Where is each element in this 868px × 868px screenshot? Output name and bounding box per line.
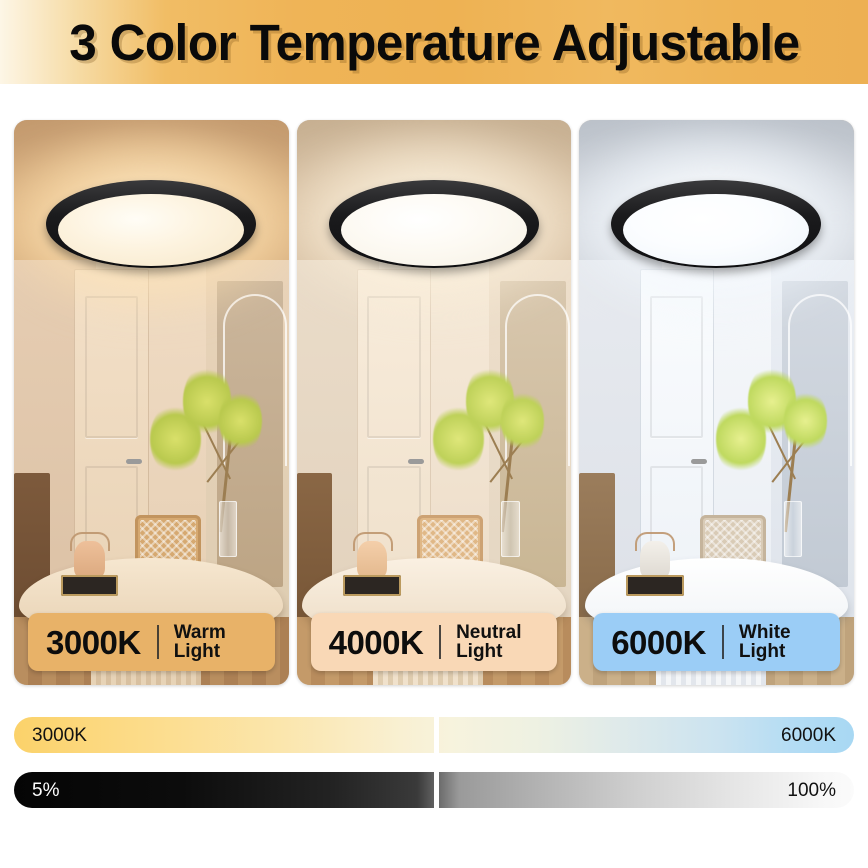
glass-vase — [784, 501, 802, 557]
teapot — [640, 541, 670, 579]
label-divider — [439, 625, 441, 659]
scale-seam — [434, 772, 439, 808]
leaf-cluster — [784, 389, 827, 453]
color-temperature-scale: 3000K 6000K — [14, 717, 854, 753]
branch-arrangement — [423, 354, 549, 533]
scene-panel-row: 3000K Warm Light — [14, 120, 854, 685]
label-bar-warm: 3000K Warm Light — [28, 613, 275, 671]
product-feature-graphic: 3 Color Temperature Adjustable — [0, 0, 868, 868]
scale-bar-group: 3000K 6000K 5% 100% — [14, 717, 854, 827]
branch-arrangement — [706, 354, 832, 533]
label-divider — [722, 625, 724, 659]
ceiling-lamp-icon — [611, 180, 821, 275]
scene-panel-neutral: 4000K Neutral Light — [297, 120, 572, 685]
kelvin-value: 6000K — [593, 626, 706, 659]
leaf-cluster — [219, 389, 262, 453]
scale-seam — [434, 717, 439, 753]
header-banner: 3 Color Temperature Adjustable — [0, 0, 868, 84]
brightness-scale: 5% 100% — [14, 772, 854, 808]
page-title: 3 Color Temperature Adjustable — [69, 17, 799, 68]
serving-tray — [626, 575, 684, 596]
brightness-max-label: 100% — [787, 781, 836, 800]
glass-vase — [219, 501, 237, 557]
room-scene-warm — [14, 120, 289, 685]
branch-arrangement — [140, 354, 266, 533]
teapot — [357, 541, 387, 579]
label-bar-cool: 6000K White Light — [593, 613, 840, 671]
kelvin-value: 4000K — [311, 626, 424, 659]
label-bar-neutral: 4000K Neutral Light — [311, 613, 558, 671]
kelvin-value: 3000K — [28, 626, 141, 659]
scene-panel-warm: 3000K Warm Light — [14, 120, 289, 685]
cct-max-label: 6000K — [781, 726, 836, 745]
cct-min-label: 3000K — [32, 726, 87, 745]
label-divider — [157, 625, 159, 659]
lamp-diffuser — [58, 194, 244, 266]
light-name: Neutral Light — [456, 623, 557, 661]
ceiling-lamp-icon — [329, 180, 539, 275]
scene-panel-cool: 6000K White Light — [579, 120, 854, 685]
leaf-cluster — [501, 389, 544, 453]
room-scene-cool — [579, 120, 854, 685]
serving-tray — [343, 575, 401, 596]
lamp-diffuser — [623, 194, 809, 266]
teapot — [74, 541, 104, 579]
lamp-diffuser — [341, 194, 527, 266]
glass-vase — [501, 501, 519, 557]
ceiling-lamp-icon — [46, 180, 256, 275]
serving-tray — [61, 575, 119, 596]
light-name: White Light — [739, 623, 840, 661]
light-name: Warm Light — [174, 623, 275, 661]
brightness-min-label: 5% — [32, 781, 59, 800]
room-scene-neutral — [297, 120, 572, 685]
